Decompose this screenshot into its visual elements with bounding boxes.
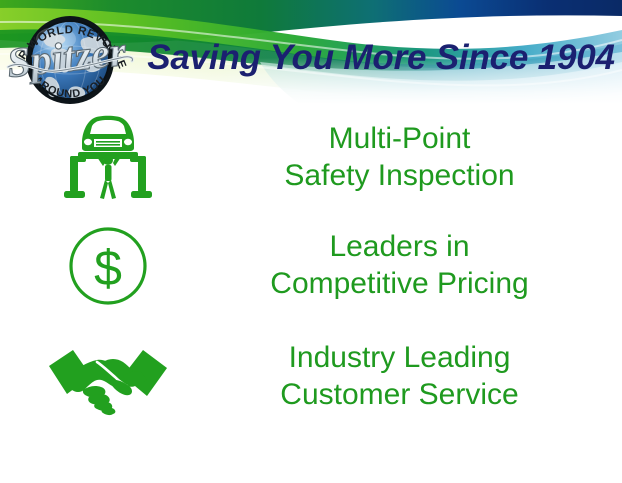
svg-text:Spitzer: Spitzer [5,29,129,87]
feature-text: Multi-Point Safety Inspection [215,121,622,194]
feature-text: Leaders in Competitive Pricing [215,229,622,302]
dollar-coin-icon: $ [64,222,152,310]
feature-icon-cell [0,336,215,418]
feature-line: Multi-Point [215,121,584,158]
feature-item-competitive-pricing: $ Leaders in Competitive Pricing [0,212,622,320]
promo-slide: OUR WORLD REVOLVES AROUND YOU Spitzer Sa… [0,0,622,483]
dollar-glyph: $ [94,240,122,296]
feature-line: Competitive Pricing [215,266,584,303]
slide-header: OUR WORLD REVOLVES AROUND YOU Spitzer Sa… [0,0,622,104]
feature-icon-cell: $ [0,222,215,310]
feature-item-customer-service: Industry Leading Customer Service [0,320,622,434]
feature-line: Industry Leading [215,340,584,377]
feature-text: Industry Leading Customer Service [215,340,622,413]
feature-item-safety-inspection: Multi-Point Safety Inspection [0,104,622,212]
feature-line: Safety Inspection [215,158,584,195]
car-on-lift-icon [56,112,160,204]
spitzer-logo: OUR WORLD REVOLVES AROUND YOU Spitzer [2,1,138,119]
page-title: Saving You More Since 1904 [146,38,616,78]
feature-line: Customer Service [215,377,584,414]
logo-wordmark: Spitzer [5,29,132,87]
feature-icon-cell [0,112,215,204]
feature-list: Multi-Point Safety Inspection $ Leaders … [0,104,622,434]
handshake-icon [47,336,169,418]
feature-line: Leaders in [215,229,584,266]
